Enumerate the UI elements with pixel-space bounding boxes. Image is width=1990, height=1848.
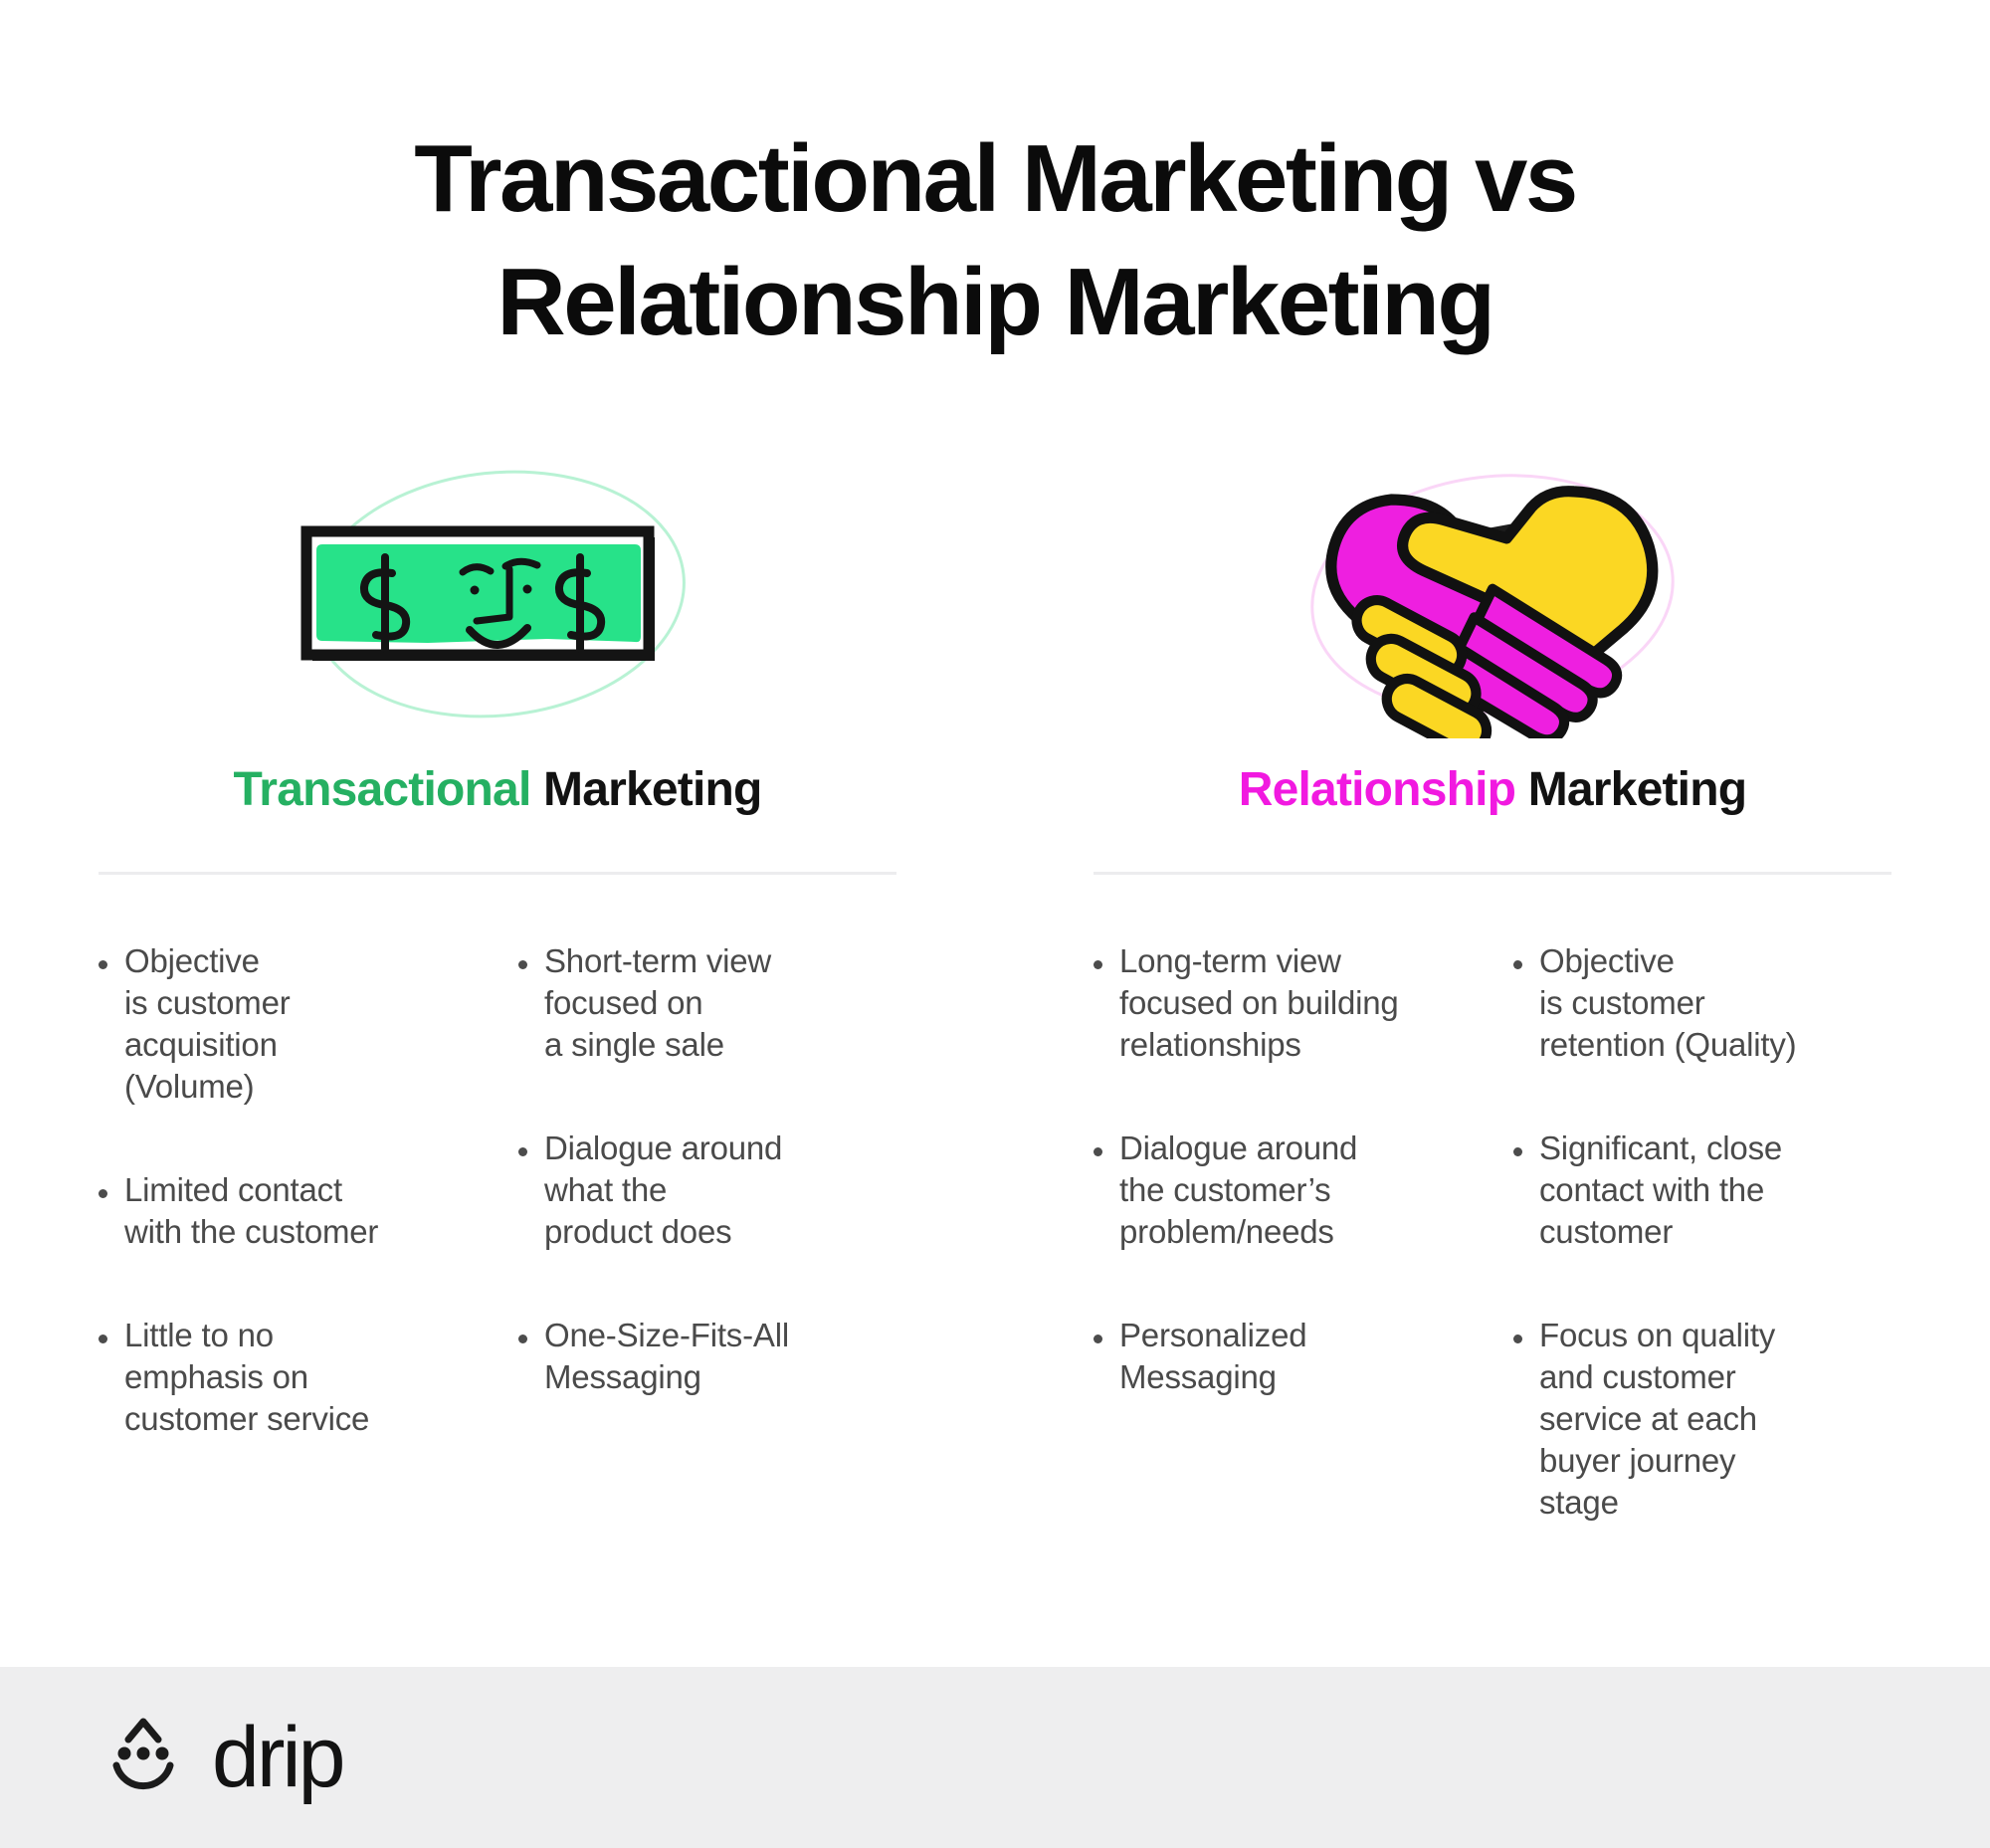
panel-heading-relationship: Relationship Marketing (1239, 760, 1747, 820)
list-item: Limited contact with the customer (99, 1169, 491, 1253)
footer-bar: drip (0, 1667, 1990, 1848)
list-item: Long-term view focused on building relat… (1094, 940, 1486, 1066)
list-item-text: Little to no emphasis on customer servic… (124, 1315, 369, 1440)
list-item-text: Long-term view focused on building relat… (1119, 940, 1399, 1066)
panel-heading-rest: Marketing (1515, 763, 1746, 816)
infographic-page: Transactional Marketing vs Relationship … (0, 0, 1990, 1848)
bullet-dot-icon (1513, 1335, 1522, 1343)
list-item: Short-term view focused on a single sale (518, 940, 910, 1066)
list-item-text: Focus on quality and customer service at… (1539, 1315, 1775, 1524)
list-item: Personalized Messaging (1094, 1315, 1486, 1398)
list-item: Significant, close contact with the cust… (1513, 1128, 1905, 1253)
bullet-column-3: Long-term view focused on building relat… (1094, 940, 1486, 1524)
bullet-dot-icon (99, 1335, 107, 1343)
list-item: Little to no emphasis on customer servic… (99, 1315, 491, 1440)
handshake-icon (1244, 450, 1741, 738)
bullet-dot-icon (518, 1335, 527, 1343)
panel-heading-transactional: Transactional Marketing (233, 760, 761, 820)
bullet-dot-icon (1094, 1147, 1102, 1156)
bullet-grid-relationship: Long-term view focused on building relat… (1080, 940, 1905, 1524)
money-bill-smiling-icon (249, 450, 746, 738)
panel-heading-rest: Marketing (530, 763, 761, 816)
bullet-column-4: Objective is customer retention (Quality… (1513, 940, 1905, 1524)
drip-wordmark: drip (212, 1715, 342, 1800)
bullet-dot-icon (99, 960, 107, 969)
panel-relationship-marketing: Relationship Marketing Long-term view fo… (995, 450, 1990, 1524)
list-item-text: Objective is customer acquisition (Volum… (124, 940, 291, 1108)
bullet-dot-icon (1513, 960, 1522, 969)
list-item-text: Short-term view focused on a single sale (544, 940, 771, 1066)
bullet-dot-icon (518, 960, 527, 969)
page-title: Transactional Marketing vs Relationship … (0, 117, 1990, 364)
bullet-dot-icon (99, 1189, 107, 1198)
list-item-text: Personalized Messaging (1119, 1315, 1306, 1398)
drip-droplet-smiley-icon (97, 1706, 206, 1810)
list-item-text: Significant, close contact with the cust… (1539, 1128, 1782, 1253)
list-item-text: Dialogue around what the product does (544, 1128, 782, 1253)
panel-heading-accent: Transactional (233, 763, 530, 816)
bullet-dot-icon (518, 1147, 527, 1156)
list-item: Dialogue around the customer’s problem/n… (1094, 1128, 1486, 1253)
page-title-line-2: Relationship Marketing (0, 241, 1990, 364)
bullet-dot-icon (1094, 960, 1102, 969)
panel-divider (1094, 872, 1891, 875)
list-item: Focus on quality and customer service at… (1513, 1315, 1905, 1524)
drip-logo[interactable]: drip (97, 1706, 342, 1810)
panel-divider (99, 872, 896, 875)
list-item: Objective is customer retention (Quality… (1513, 940, 1905, 1066)
bullet-column-2: Short-term view focused on a single sale… (518, 940, 910, 1440)
bullet-dot-icon (1513, 1147, 1522, 1156)
bullet-grid-transactional: Objective is customer acquisition (Volum… (85, 940, 910, 1440)
list-item-text: One-Size-Fits-All Messaging (544, 1315, 789, 1398)
list-item: Objective is customer acquisition (Volum… (99, 940, 491, 1108)
page-title-line-1: Transactional Marketing vs (0, 117, 1990, 241)
list-item-text: Objective is customer retention (Quality… (1539, 940, 1796, 1066)
panel-transactional-marketing: Transactional Marketing Objective is cus… (0, 450, 995, 1524)
list-item: Dialogue around what the product does (518, 1128, 910, 1253)
list-item: One-Size-Fits-All Messaging (518, 1315, 910, 1398)
list-item-text: Dialogue around the customer’s problem/n… (1119, 1128, 1357, 1253)
bullet-dot-icon (1094, 1335, 1102, 1343)
panel-heading-accent: Relationship (1239, 763, 1515, 816)
bullet-column-1: Objective is customer acquisition (Volum… (99, 940, 491, 1440)
comparison-panels: Transactional Marketing Objective is cus… (0, 450, 1990, 1524)
list-item-text: Limited contact with the customer (124, 1169, 378, 1253)
